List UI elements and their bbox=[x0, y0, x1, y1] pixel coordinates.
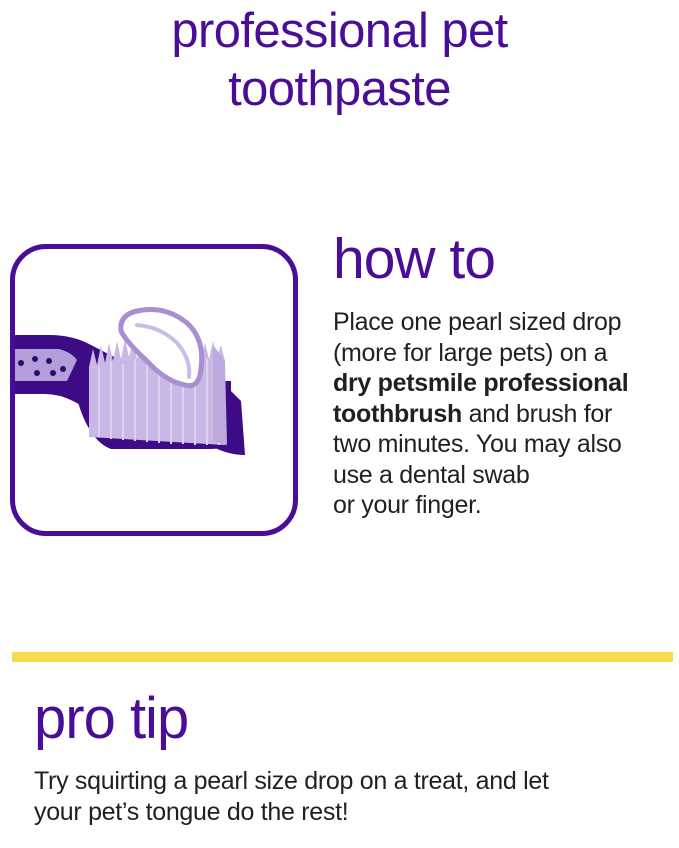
how-to-body-line-7: or your finger. bbox=[333, 490, 663, 521]
how-to-body-line-4-bold: toothbrush bbox=[333, 400, 462, 428]
how-to-body-line-3: dry petsmile professional bbox=[333, 368, 663, 399]
pro-tip-body-line-2: your pet’s tongue do the rest! bbox=[34, 797, 654, 828]
how-to-heading: how to bbox=[333, 228, 663, 290]
toothbrush-illustration-card bbox=[10, 244, 298, 536]
pro-tip-body: Try squirting a pearl size drop on a tre… bbox=[34, 766, 654, 828]
pro-tip-body-line-1: Try squirting a pearl size drop on a tre… bbox=[34, 766, 654, 797]
handle-grip-panel bbox=[15, 349, 77, 381]
yellow-divider bbox=[12, 652, 673, 662]
page-title: professional pet toothpaste bbox=[0, 2, 679, 118]
page-title-line-2: toothpaste bbox=[0, 60, 679, 118]
how-to-body-line-5: two minutes. You may also bbox=[333, 429, 663, 460]
toothbrush-with-paste-icon bbox=[15, 249, 293, 531]
how-to-body-line-4: toothbrush and brush for bbox=[333, 399, 663, 430]
how-to-body-line-3-bold: dry petsmile professional bbox=[333, 369, 628, 397]
page-title-line-1: professional pet bbox=[0, 2, 679, 60]
bristles-right-edge bbox=[213, 345, 227, 445]
how-to-text-block: how to Place one pearl sized drop (more … bbox=[333, 228, 663, 521]
how-to-section: how to Place one pearl sized drop (more … bbox=[0, 228, 679, 568]
how-to-body-line-4-rest: and brush for bbox=[462, 400, 612, 428]
how-to-body-line-1: Place one pearl sized drop bbox=[333, 307, 663, 338]
pro-tip-heading: pro tip bbox=[34, 686, 654, 752]
pro-tip-section: pro tip Try squirting a pearl size drop … bbox=[34, 686, 654, 828]
how-to-body-line-2: (more for large pets) on a bbox=[333, 338, 663, 369]
how-to-body: Place one pearl sized drop (more for lar… bbox=[333, 307, 663, 521]
how-to-body-line-6: use a dental swab bbox=[333, 460, 663, 491]
